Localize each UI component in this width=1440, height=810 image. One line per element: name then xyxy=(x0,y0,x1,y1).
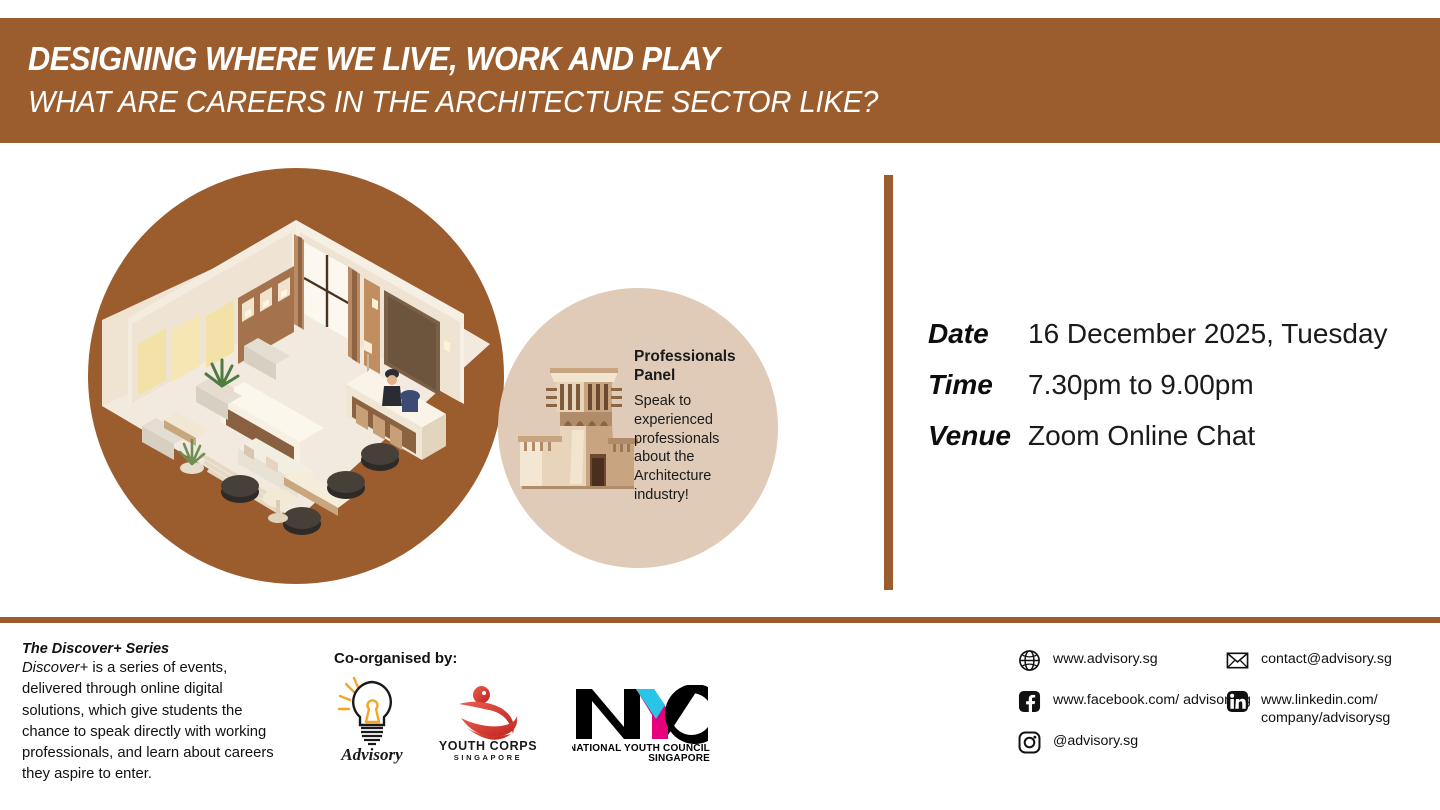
detail-row-venue: Venue Zoom Online Chat xyxy=(928,420,1388,452)
contact-column-left: www.advisory.sg www.facebook.com/ adviso… xyxy=(1018,648,1251,771)
youth-corps-singapore-logo: YOUTH CORPS SINGAPORE xyxy=(437,678,539,763)
instagram-icon xyxy=(1018,731,1041,754)
detail-row-date: Date 16 December 2025, Tuesday xyxy=(928,318,1388,350)
event-details: Date 16 December 2025, Tuesday Time 7.30… xyxy=(928,318,1388,471)
detail-row-time: Time 7.30pm to 9.00pm xyxy=(928,369,1388,401)
linkedin-text: www.linkedin.com/ company/advisorysg xyxy=(1261,689,1438,728)
youth-corps-wordmark: YOUTH CORPS xyxy=(439,739,537,753)
email-text: contact@advisory.sg xyxy=(1261,648,1392,668)
linkedin-icon xyxy=(1226,690,1249,713)
advisory-wordmark: Advisory xyxy=(340,745,403,764)
facebook-icon xyxy=(1018,690,1041,713)
page-subtitle: WHAT ARE CAREERS IN THE ARCHITECTURE SEC… xyxy=(28,84,878,120)
contact-item-facebook[interactable]: www.facebook.com/ advisorysg xyxy=(1018,689,1251,713)
national-youth-council-logo: NATIONAL YOUTH COUNCIL SINGAPORE xyxy=(572,685,714,761)
youth-corps-subwordmark: SINGAPORE xyxy=(454,753,522,762)
envelope-icon xyxy=(1226,649,1249,672)
footer-divider xyxy=(0,617,1440,623)
nyc-subwordmark: SINGAPORE xyxy=(648,753,710,761)
contact-item-linkedin[interactable]: www.linkedin.com/ company/advisorysg xyxy=(1226,689,1438,728)
professionals-panel-circle: ProfessionalsPanel Speak to experienced … xyxy=(498,288,778,568)
detail-value-date: 16 December 2025, Tuesday xyxy=(1028,318,1388,350)
website-text: www.advisory.sg xyxy=(1053,648,1158,668)
facebook-text: www.facebook.com/ advisorysg xyxy=(1053,689,1251,709)
vertical-divider xyxy=(884,175,893,590)
contact-column-right: contact@advisory.sg www.linkedin.com/ co… xyxy=(1226,648,1438,745)
instagram-text: @advisory.sg xyxy=(1053,730,1138,750)
discover-plus-emphasis: Discover+ xyxy=(22,660,88,676)
detail-value-venue: Zoom Online Chat xyxy=(1028,420,1255,452)
discover-series-heading: The Discover+ Series xyxy=(22,641,288,657)
detail-label-date: Date xyxy=(928,318,1028,350)
contact-item-email[interactable]: contact@advisory.sg xyxy=(1226,648,1438,672)
discover-series-body-rest: is a series of events, delivered through… xyxy=(22,660,274,782)
panel-title: ProfessionalsPanel xyxy=(634,348,744,386)
panel-description: Speak to experienced professionals about… xyxy=(634,392,744,505)
panel-text-block: ProfessionalsPanel Speak to experienced … xyxy=(634,348,744,505)
detail-value-time: 7.30pm to 9.00pm xyxy=(1028,369,1254,401)
wind-tower-building-icon xyxy=(516,366,640,496)
globe-icon xyxy=(1018,649,1041,672)
detail-label-venue: Venue xyxy=(928,420,1028,452)
contact-item-website[interactable]: www.advisory.sg xyxy=(1018,648,1251,672)
detail-label-time: Time xyxy=(928,369,1028,401)
discover-series-body: Discover+ is a series of events, deliver… xyxy=(22,658,288,786)
discover-series-block: The Discover+ Series Discover+ is a seri… xyxy=(22,641,288,786)
advisory-logo: Advisory xyxy=(334,674,410,764)
header-bar xyxy=(0,18,1440,143)
page-title: DESIGNING WHERE WE LIVE, WORK AND PLAY xyxy=(28,40,720,78)
isometric-lobby-illustration xyxy=(88,168,504,584)
coorganised-label: Co-organised by: xyxy=(334,650,457,667)
contact-item-instagram[interactable]: @advisory.sg xyxy=(1018,730,1251,754)
hero-illustration-circle xyxy=(88,168,504,584)
poster-canvas: DESIGNING WHERE WE LIVE, WORK AND PLAY W… xyxy=(0,0,1440,810)
